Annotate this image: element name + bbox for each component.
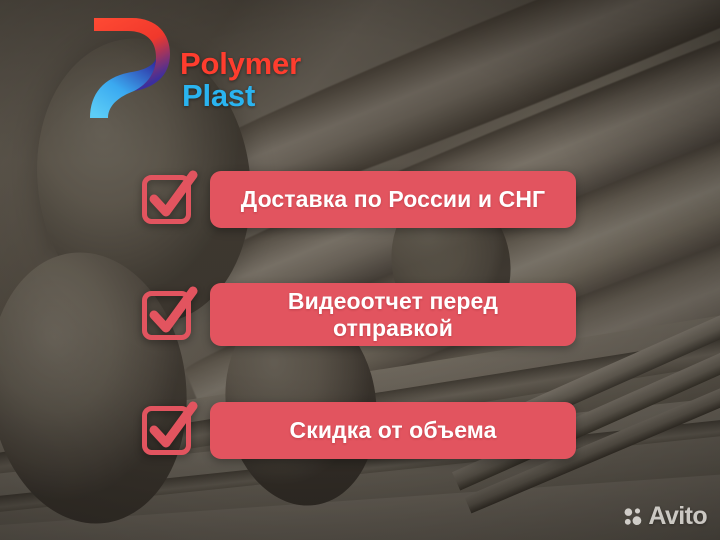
avito-label: Avito bbox=[648, 502, 707, 531]
feature-banner: Видеоотчет перед отправкой bbox=[210, 283, 576, 346]
feature-label: Скидка от объема bbox=[290, 417, 497, 444]
feature-label: Доставка по России и СНГ bbox=[241, 186, 545, 213]
feature-item-delivery: Доставка по России и СНГ bbox=[140, 168, 576, 230]
checkbox-checked-icon bbox=[140, 168, 198, 230]
checkbox-checked-icon bbox=[140, 284, 198, 346]
avito-watermark: Avito bbox=[624, 502, 707, 531]
checkbox-checked-icon bbox=[140, 399, 198, 461]
feature-banner: Скидка от объема bbox=[210, 402, 576, 459]
feature-item-video-report: Видеоотчет перед отправкой bbox=[140, 283, 576, 346]
ad-image: Polymer Plast Доставка по России и СНГ В… bbox=[0, 0, 720, 540]
polymer-swoosh-logo-icon bbox=[88, 14, 172, 122]
avito-dots-icon bbox=[624, 507, 643, 526]
brand-logo: Polymer Plast bbox=[88, 14, 301, 122]
brand-name-line-1: Polymer bbox=[180, 48, 301, 80]
feature-label: Видеоотчет перед отправкой bbox=[288, 288, 498, 342]
feature-banner: Доставка по России и СНГ bbox=[210, 171, 576, 228]
brand-name: Polymer Plast bbox=[180, 14, 301, 111]
brand-name-line-2: Plast bbox=[180, 80, 301, 112]
feature-item-volume-discount: Скидка от объема bbox=[140, 399, 576, 461]
